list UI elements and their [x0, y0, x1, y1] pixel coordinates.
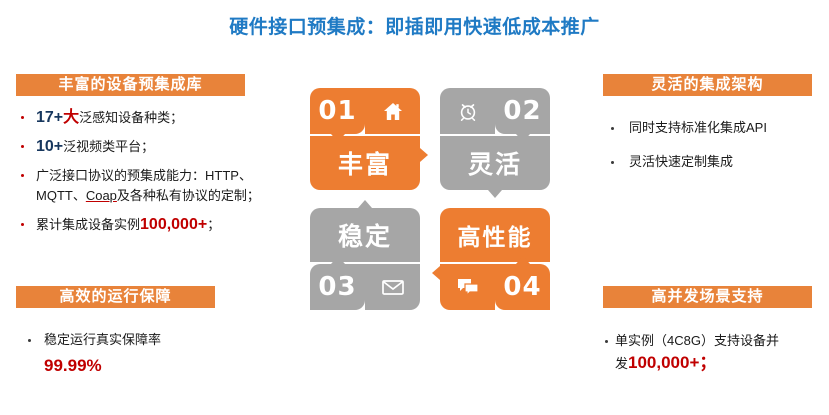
quadrant-03-label: 稳定 [310, 208, 420, 262]
list-item: 同时支持标准化集成API [603, 118, 829, 138]
bullet-text-line2a: MQTT、 [36, 188, 86, 203]
quadrant-02[interactable]: 02 灵活 [440, 88, 550, 190]
quadrant-02-arrow-down [488, 190, 502, 198]
list-item: 广泛接口协议的预集成能力：HTTP、 MQTT、Coap及各种私有协议的定制； [16, 166, 294, 206]
quadrant-01[interactable]: 01 丰富 [310, 88, 420, 190]
alarm-clock-icon [440, 88, 495, 134]
page-title: 硬件接口预集成：即插即用快速低成本推广 [0, 12, 829, 39]
panel-concurrency-header: 高并发场景支持 [603, 286, 812, 308]
quadrant-04[interactable]: 高性能 04 [440, 208, 550, 310]
quadrant-04-label: 高性能 [440, 208, 550, 262]
bullet-tail: ； [207, 217, 220, 232]
quadrant-03-bottom: 03 [310, 264, 420, 310]
panel-arch-bullet-list: 同时支持标准化集成API 灵活快速定制集成 [603, 118, 829, 172]
quadrant-01-label: 丰富 [310, 136, 420, 190]
bullet-text-line1: 单实例（4C8G）支持设备并 [615, 333, 779, 348]
uptime-value: 99.99% [44, 356, 294, 376]
quadrant-04-notch [516, 256, 530, 264]
panel-operations-guarantee: 高效的运行保障 稳定运行真实保障率 99.99% [16, 286, 294, 378]
quadrant-01-number: 01 [310, 88, 365, 134]
panel-rich-bullet-list: 17+大泛感知设备种类； 10+泛视频类平台； 广泛接口协议的预集成能力：HTT… [16, 108, 294, 235]
quadrant-01-top: 01 [310, 88, 420, 134]
bullet-text-line1: 广泛接口协议的预集成能力：HTTP、 [36, 168, 252, 183]
quadrant-01-arrow-right [420, 148, 428, 162]
panel-concurrency-body: 单实例（4C8G）支持设备并 发100,000+； [603, 330, 829, 375]
bullet-text: 累计集成设备实例 [36, 217, 140, 232]
panel-rich-header: 丰富的设备预集成库 [16, 74, 245, 96]
home-icon [365, 88, 420, 134]
list-item: 灵活快速定制集成 [603, 152, 829, 172]
bullet-number: 100,000+ [140, 216, 207, 233]
list-item: 单实例（4C8G）支持设备并 发100,000+； [603, 330, 829, 375]
bullet-number: 10+ [36, 138, 63, 155]
panel-arch-body: 同时支持标准化集成API 灵活快速定制集成 [603, 118, 829, 172]
quadrant-04-arrow-left [432, 266, 440, 280]
quadrant-02-top: 02 [440, 88, 550, 134]
list-item: 17+大泛感知设备种类； [16, 108, 294, 128]
list-item: 累计集成设备实例100,000+； [16, 215, 294, 235]
quadrant-04-number: 04 [495, 264, 550, 310]
bullet-text: 泛视频类平台； [63, 139, 154, 154]
four-quadrant-diagram: 01 丰富 [310, 88, 550, 310]
panel-ops-bullet-list: 稳定运行真实保障率 99.99% [16, 330, 294, 376]
bullet-text-prefix: 发 [615, 356, 628, 371]
panel-rich-body: 17+大泛感知设备种类； 10+泛视频类平台； 广泛接口协议的预集成能力：HTT… [16, 108, 294, 235]
quadrant-02-label: 灵活 [440, 136, 550, 190]
bullet-text: 稳定运行真实保障率 [44, 332, 161, 347]
quadrant-02-number: 02 [495, 88, 550, 134]
bullet-text-line2c: 及各种私有协议的定制； [117, 188, 260, 203]
list-item: 稳定运行真实保障率 99.99% [16, 330, 294, 376]
chat-bubble-icon [440, 264, 495, 310]
panel-concurrency-bullet-list: 单实例（4C8G）支持设备并 发100,000+； [603, 330, 829, 375]
bullet-text: 泛感知设备种类； [79, 110, 183, 125]
panel-high-concurrency: 高并发场景支持 单实例（4C8G）支持设备并 发100,000+； [603, 286, 829, 375]
quadrant-04-bottom: 04 [440, 264, 550, 310]
quadrant-03-notch [331, 256, 345, 264]
quadrant-03-number: 03 [310, 264, 365, 310]
concurrency-value: 100,000+； [628, 353, 716, 372]
quadrant-03[interactable]: 稳定 03 [310, 208, 420, 310]
panel-arch-header: 灵活的集成架构 [603, 74, 812, 96]
bullet-number: 17+ [36, 109, 63, 126]
panel-ops-header: 高效的运行保障 [16, 286, 215, 308]
quadrant-03-arrow-up [358, 200, 372, 208]
panel-ops-body: 稳定运行真实保障率 99.99% [16, 330, 294, 376]
bullet-number-unit: 大 [63, 109, 79, 126]
panel-flexible-architecture: 灵活的集成架构 同时支持标准化集成API 灵活快速定制集成 [603, 74, 829, 186]
bullet-text-line2b: Coap [86, 188, 117, 203]
list-item: 10+泛视频类平台； [16, 137, 294, 157]
envelope-icon [365, 264, 420, 310]
panel-rich-device-library: 丰富的设备预集成库 17+大泛感知设备种类； 10+泛视频类平台； 广泛接口协议… [16, 74, 294, 244]
